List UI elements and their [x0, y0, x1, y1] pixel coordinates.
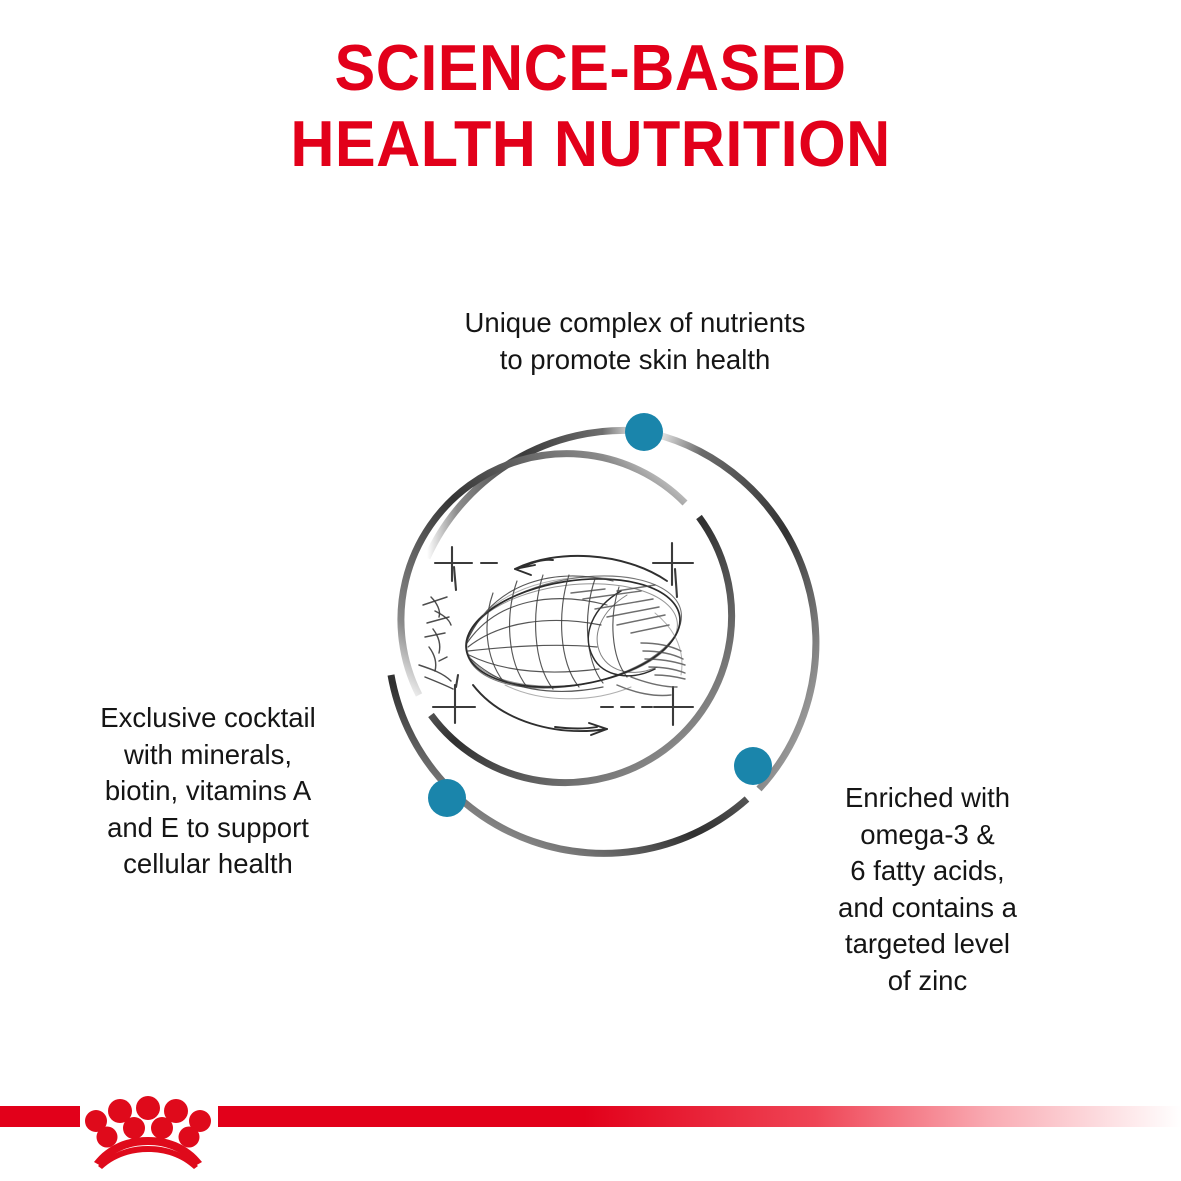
callout-omega-zinc-line-5: targeted level — [790, 926, 1065, 963]
royal-canin-crown-logo — [82, 1092, 214, 1172]
callout-skin-health: Unique complex of nutrients to promote s… — [340, 305, 930, 378]
outer-ring-arc-bottom-left — [391, 675, 747, 853]
marker-top-icon — [625, 413, 663, 451]
registration-marks — [433, 543, 693, 725]
callout-omega-zinc-line-3: 6 fatty acids, — [790, 853, 1065, 890]
cell-sketch — [419, 543, 693, 735]
callout-omega-zinc-line-6: of zinc — [790, 963, 1065, 1000]
callout-skin-health-line-1: Unique complex of nutrients — [340, 305, 930, 342]
callout-cellular-health-line-4: and E to support — [38, 810, 378, 847]
rotation-arrow-bottom — [473, 685, 607, 735]
footer-bar-left — [0, 1106, 80, 1127]
callout-cellular-health-line-3: biotin, vitamins A — [38, 773, 378, 810]
callout-omega-zinc-line-1: Enriched with — [790, 780, 1065, 817]
callout-cellular-health-line-1: Exclusive cocktail — [38, 700, 378, 737]
handwritten-note — [419, 597, 453, 689]
callout-cellular-health: Exclusive cocktail with minerals, biotin… — [38, 700, 378, 883]
callout-skin-health-line-2: to promote skin health — [340, 342, 930, 379]
marker-bottom-left-icon — [428, 779, 466, 817]
marker-right-icon — [734, 747, 772, 785]
footer-bar-right — [218, 1106, 1181, 1127]
inner-ring — [401, 454, 732, 783]
page-title-line-2: HEALTH NUTRITION — [35, 106, 1145, 182]
page-title-line-1: SCIENCE-BASED — [35, 30, 1145, 106]
callout-cellular-health-line-5: cellular health — [38, 846, 378, 883]
callout-cellular-health-line-2: with minerals, — [38, 737, 378, 774]
callout-omega-zinc-line-4: and contains a — [790, 890, 1065, 927]
crown-icon — [85, 1096, 211, 1169]
nutrition-diagram — [355, 385, 825, 865]
footer-band — [0, 1092, 1181, 1181]
callout-omega-zinc-line-2: omega-3 & — [790, 817, 1065, 854]
callout-omega-zinc: Enriched with omega-3 & 6 fatty acids, a… — [790, 780, 1065, 999]
cell-body — [457, 559, 691, 705]
page-title: SCIENCE-BASED HEALTH NUTRITION — [0, 30, 1181, 182]
